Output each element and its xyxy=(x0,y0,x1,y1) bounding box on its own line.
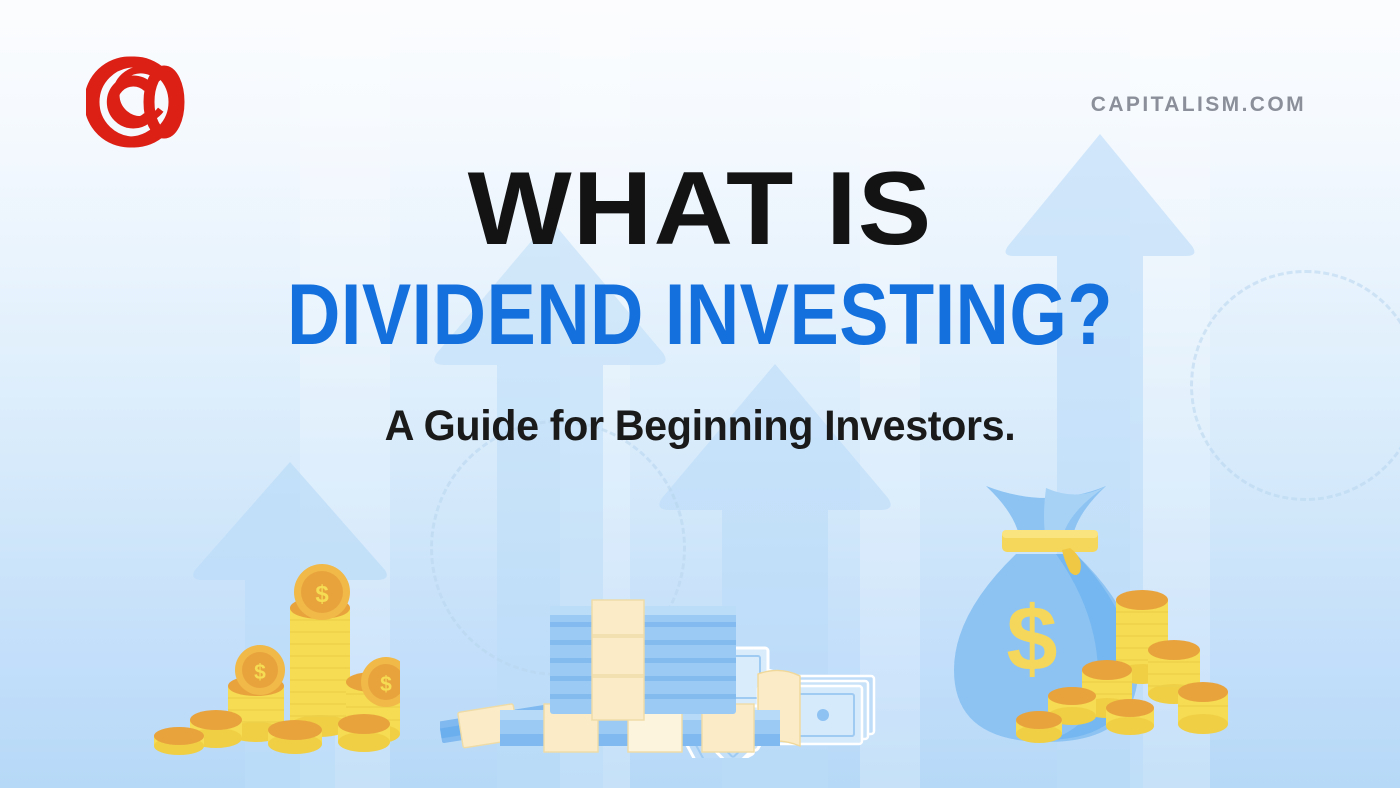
svg-text:$: $ xyxy=(315,581,329,608)
money-bag-illustration: $ xyxy=(920,480,1230,760)
gold-coin-stacks-illustration: $ $ $ xyxy=(150,560,400,760)
coin-stack-front-b xyxy=(154,727,204,755)
headline-block: WHAT IS DIVIDEND INVESTING? A Guide for … xyxy=(0,160,1400,451)
svg-text:$: $ xyxy=(1006,588,1057,690)
upright-coin-midleft: $ xyxy=(235,645,285,695)
page-tagline: A Guide for Beginning Investors. xyxy=(28,402,1372,451)
brand-url[interactable]: CAPITALISM.COM xyxy=(1091,93,1306,117)
svg-text:$: $ xyxy=(380,673,392,696)
upright-coin-top: $ xyxy=(294,564,350,620)
double-c-logo-icon xyxy=(86,52,198,152)
capitalism-logo[interactable] xyxy=(86,52,198,152)
cash-bundles-illustration: § xyxy=(440,548,880,758)
poster-canvas: CAPITALISM.COM WHAT IS DIVIDEND INVESTIN… xyxy=(0,0,1400,788)
cash-bundle-tall xyxy=(550,600,736,720)
coin-stack-bag-floor xyxy=(1016,711,1062,743)
svg-text:$: $ xyxy=(254,661,266,684)
coin-stack-bag-small-front xyxy=(1106,699,1154,735)
page-title-line1: WHAT IS xyxy=(0,160,1400,260)
page-title-line2: DIVIDEND INVESTING? xyxy=(98,272,1302,358)
coin-stack-bag-far-right xyxy=(1178,682,1228,734)
coin-stack-front-c xyxy=(268,720,322,754)
coin-stack-front-d xyxy=(338,714,390,752)
